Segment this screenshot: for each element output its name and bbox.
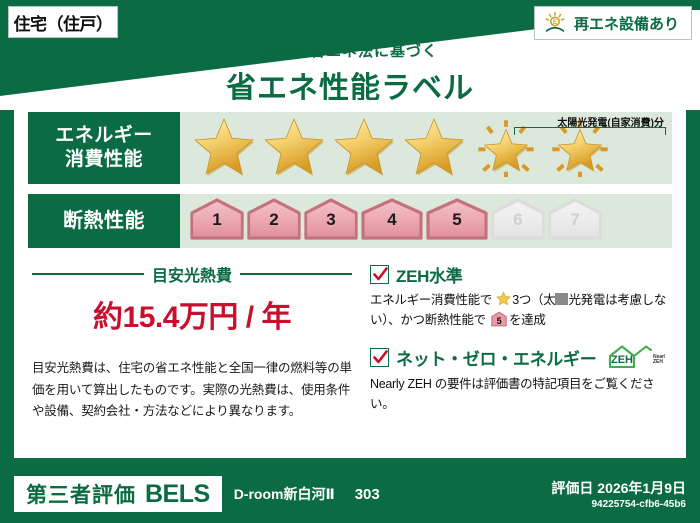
label-lower-section: 目安光熱費 約15.4万円 / 年 目安光熱費は、住宅の省エネ性能と全国一律の燃… [14, 262, 686, 424]
energy-key-line2: 消費性能 [65, 148, 143, 172]
cost-rule-right [240, 273, 352, 275]
label-card: エネルギー 消費性能 太陽光発電(自家消費)分 断熱性能 1234567 [14, 100, 686, 458]
zeh-text-b: 3つ（太 [512, 293, 555, 307]
insulation-performance-row: 断熱性能 1234567 [28, 194, 672, 248]
housing-type-label: 住宅（住戸） [14, 10, 113, 35]
insulation-level-number: 2 [247, 210, 301, 230]
zeh-netzero-heading: ネット・ゼロ・エネルギー ZEH Nearly ZEH [370, 344, 672, 371]
cost-heading-label: 目安光熱費 [152, 262, 232, 286]
star-icon-filled [190, 115, 258, 181]
zeh-netzero-body: Nearly ZEH の要件は評価書の特記項目をご覧ください。 [370, 374, 672, 415]
utility-cost-note: 目安光熱費は、住宅の省エネ性能と全国一律の燃料等の単価を用いて算出したものです。… [32, 358, 352, 423]
zeh-logo-icon: ZEH Nearly ZEH [607, 344, 665, 371]
utility-cost-section: 目安光熱費 約15.4万円 / 年 目安光熱費は、住宅の省エネ性能と全国一律の燃… [14, 262, 366, 424]
star-icon-solar [470, 115, 542, 181]
insulation-level-number: 1 [190, 210, 244, 230]
star-icon-filled [330, 115, 398, 181]
star-icon-filled [260, 115, 328, 181]
zeh-standard-block: ZEH水準 エネルギー消費性能で 3つ（太光発電は考慮しない）、かつ断熱性能で … [370, 262, 672, 334]
zeh-standard-body: エネルギー消費性能で 3つ（太光発電は考慮しない）、かつ断熱性能で 5 を達成 [370, 290, 672, 334]
bels-jp-label: 第三者評価 [26, 479, 136, 509]
energy-key-line1: エネルギー [55, 124, 153, 148]
utility-cost-heading: 目安光熱費 [32, 262, 352, 286]
solar-portion-bracket [514, 127, 666, 135]
insulation-level-number: 3 [304, 210, 358, 230]
housing-type-tag: 住宅（住戸） [8, 6, 118, 38]
zeh-text-a: エネルギー消費性能で [370, 293, 492, 307]
insulation-level-6: 6 [491, 198, 545, 245]
energy-performance-value: 太陽光発電(自家消費)分 [180, 112, 672, 184]
zeh-standard-title: ZEH水準 [396, 262, 463, 287]
evaluation-id: 94225754-cfb6-45b6 [551, 499, 686, 510]
inline-house-number: 5 [491, 314, 507, 329]
energy-performance-key: エネルギー 消費性能 [28, 112, 180, 184]
utility-cost-value: 約15.4万円 / 年 [32, 292, 352, 336]
zeh-text-d: を達成 [509, 313, 546, 327]
building-name: D-room新白河Ⅱ [234, 484, 335, 504]
insulation-level-3: 3 [304, 198, 358, 245]
renewable-energy-badge: E 再エネ設備あり [534, 6, 692, 40]
bels-certification-mark: 第三者評価 BELS [14, 476, 222, 512]
cost-rule-left [32, 273, 144, 275]
svg-text:ZEH: ZEH [653, 359, 663, 365]
zeh-netzero-block: ネット・ゼロ・エネルギー ZEH Nearly ZEH Nearly ZEH の… [370, 344, 672, 415]
energy-label-root: 住宅（住戸） E 再エネ設備あり 建築物省エネ法に基づく 省エネ性能ラベル エネ… [0, 0, 700, 523]
insulation-level-scale: 1234567 [190, 198, 602, 245]
insulation-level-number: 4 [361, 210, 423, 230]
label-footer: 第三者評価 BELS D-room新白河Ⅱ 303 評価日 2026年1月9日 … [0, 465, 700, 523]
insulation-performance-key: 断熱性能 [28, 194, 180, 248]
svg-text:E: E [553, 20, 557, 26]
star-icon-filled [400, 115, 468, 181]
insulation-level-number: 7 [548, 210, 602, 230]
inline-house-level-icon: 5 [491, 311, 507, 333]
insulation-level-7: 7 [548, 198, 602, 245]
insulation-level-2: 2 [247, 198, 301, 245]
checkbox-checked-icon [370, 265, 389, 284]
zeh-section: ZEH水準 エネルギー消費性能で 3つ（太光発電は考慮しない）、かつ断熱性能で … [366, 262, 686, 424]
star-rating [190, 115, 616, 181]
evaluation-info: 評価日 2026年1月9日 94225754-cfb6-45b6 [551, 478, 686, 510]
insulation-level-5: 5 [426, 198, 488, 245]
bels-en-label: BELS [145, 480, 210, 509]
energy-performance-row: エネルギー 消費性能 太陽光発電(自家消費)分 [28, 112, 672, 184]
svg-text:ZEH: ZEH [611, 354, 633, 366]
insulation-performance-value: 1234567 [180, 194, 672, 248]
insulation-key-label: 断熱性能 [63, 209, 145, 234]
zeh-netzero-title: ネット・ゼロ・エネルギー [396, 345, 596, 370]
room-number: 303 [355, 486, 380, 503]
zeh-standard-heading: ZEH水準 [370, 262, 672, 287]
evaluation-date: 評価日 2026年1月9日 [551, 478, 686, 498]
insulation-level-4: 4 [361, 198, 423, 245]
renewable-badge-label: 再エネ設備あり [574, 13, 679, 34]
insulation-level-1: 1 [190, 198, 244, 245]
insulation-level-number: 5 [426, 210, 488, 230]
sun-icon: E [543, 11, 567, 35]
inline-star-icon [496, 291, 511, 306]
checkbox-checked-icon [370, 348, 389, 367]
insulation-level-number: 6 [491, 210, 545, 230]
inline-sun-redacted-icon [555, 293, 568, 305]
